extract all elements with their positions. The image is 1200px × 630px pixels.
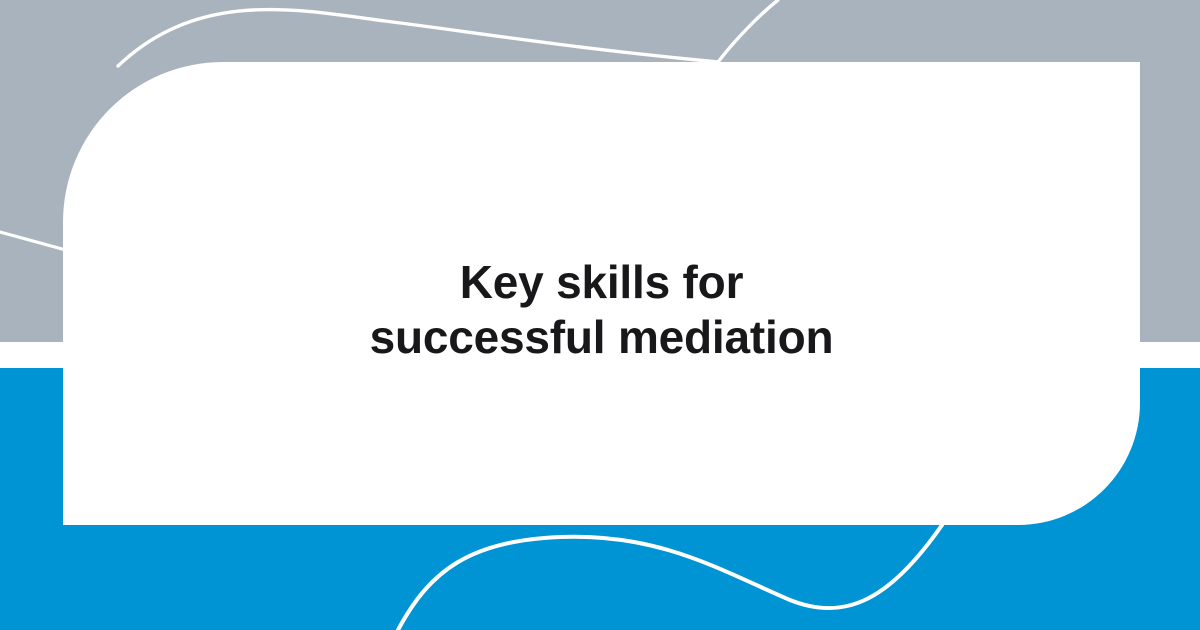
page-title-line-2: successful mediation	[63, 310, 1140, 365]
page-title: Key skills for successful mediation	[63, 255, 1140, 365]
page-title-line-1: Key skills for	[63, 255, 1140, 310]
promo-card-canvas: Key skills for successful mediation	[0, 0, 1200, 630]
